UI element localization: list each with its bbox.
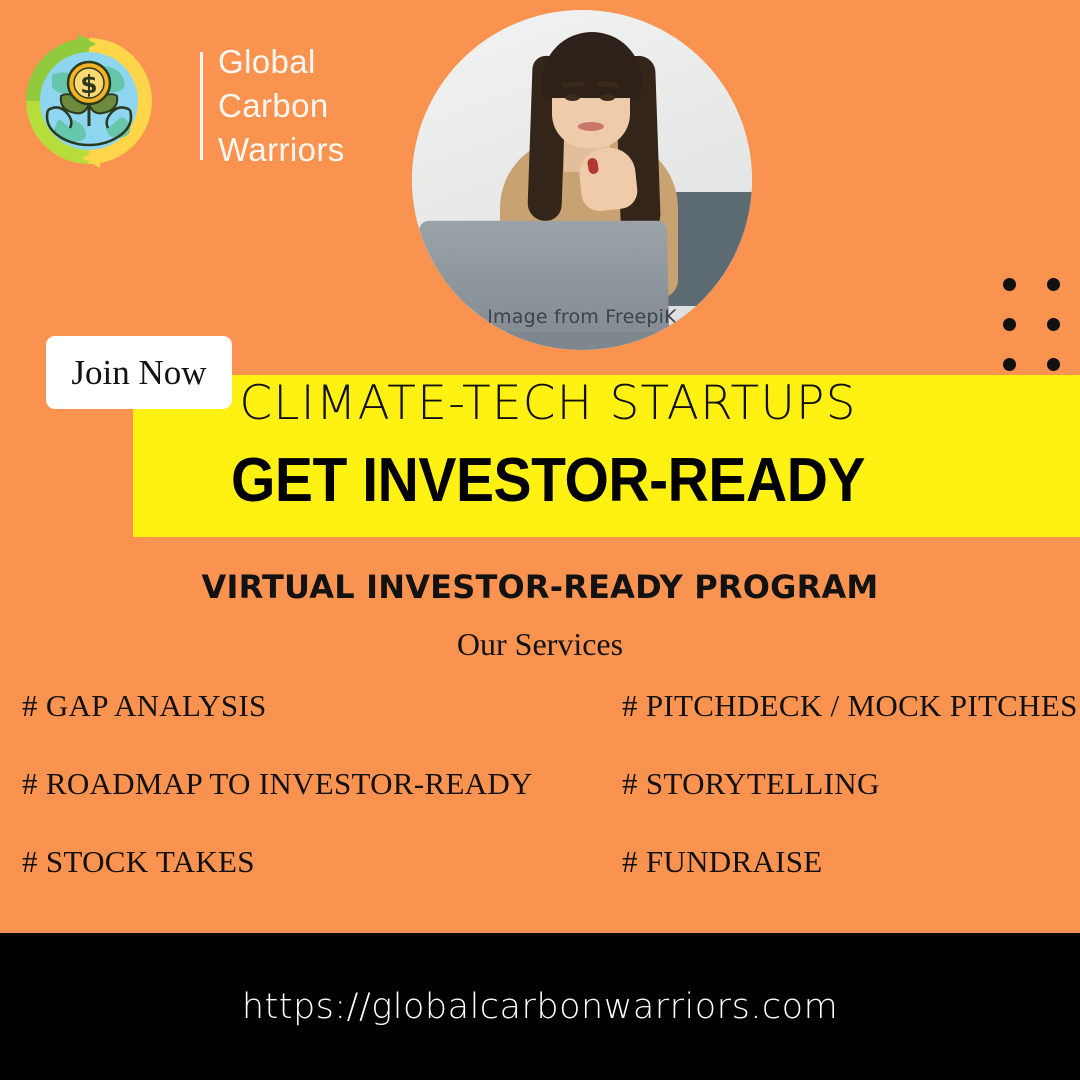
photo-eye-right (600, 94, 615, 101)
services-column-left: # GAP ANALYSIS # ROADMAP TO INVESTOR-REA… (22, 688, 533, 922)
brand-name-line-3: Warriors (218, 128, 345, 172)
globe-hands-plant-coin-recycle-logo-icon: $ (18, 30, 160, 172)
service-item: # STOCK TAKES (22, 844, 533, 922)
brand-logo-block[interactable]: $ Global Carbon Warriors (18, 22, 358, 177)
svg-text:$: $ (80, 70, 97, 99)
headline-main: GET INVESTOR-READY (166, 445, 930, 516)
brand-name-line-1: Global (218, 40, 345, 84)
website-url[interactable]: https://globalcarbonwarriors.com (242, 987, 838, 1027)
join-now-button[interactable]: Join Now (46, 336, 232, 409)
service-item: # STORYTELLING (622, 766, 1078, 844)
photo-lips (578, 122, 604, 131)
program-subtitle: VIRTUAL INVESTOR-READY PROGRAM (0, 568, 1080, 606)
photo-credit: Image from FreepiK (412, 306, 752, 328)
services-column-right: # PITCHDECK / MOCK PITCHES # STORYTELLIN… (622, 688, 1078, 922)
promo-poster: $ Global Carbon Warriors (0, 0, 1080, 1080)
services-heading: Our Services (0, 626, 1080, 663)
headline-eyebrow: CLIMATE-TECH STARTUPS (133, 376, 963, 431)
brand-name-line-2: Carbon (218, 84, 345, 128)
footer-bar: https://globalcarbonwarriors.com (0, 933, 1080, 1080)
service-item: # ROADMAP TO INVESTOR-READY (22, 766, 533, 844)
brand-name: Global Carbon Warriors (218, 40, 345, 172)
service-item: # GAP ANALYSIS (22, 688, 533, 766)
photo-laptop-base (412, 332, 680, 350)
hero-photo-circle: Image from FreepiK (412, 10, 752, 350)
service-item: # PITCHDECK / MOCK PITCHES (622, 688, 1078, 766)
logo-divider (200, 52, 203, 160)
photo-eye-left (565, 94, 580, 101)
service-item: # FUNDRAISE (622, 844, 1078, 922)
